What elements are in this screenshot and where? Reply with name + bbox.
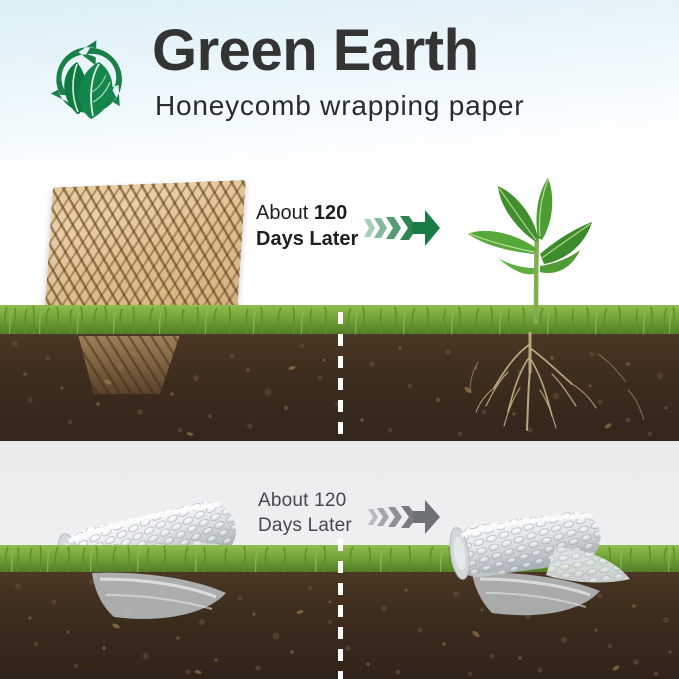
plastic-panel: About 120 Days Later (0, 441, 679, 679)
infographic-page: Green Earth Honeycomb wrapping paper (0, 0, 679, 679)
timeline-suffix-bottom: Days Later (258, 514, 352, 539)
timeline-prefix-bottom: About (258, 490, 314, 511)
honeycomb-panel: About 120 Days Later (0, 160, 679, 441)
bubble-wrap-buried-left (86, 571, 231, 627)
bubble-wrap-buried-right (466, 571, 606, 623)
green-right-arrow-icon (362, 208, 440, 248)
page-subtitle: Honeycomb wrapping paper (155, 90, 524, 122)
vertical-dashed-divider-top (338, 312, 343, 441)
timeline-days-bottom: 120 (314, 490, 346, 511)
vertical-dashed-divider-bottom (338, 539, 343, 679)
timeline-days-top: 120 (314, 202, 347, 224)
gray-right-arrow-icon (366, 497, 440, 537)
recycle-leaves-icon (33, 26, 145, 134)
sprouted-seedling (450, 172, 640, 324)
timeline-prefix-top: About (256, 202, 314, 224)
seedling-roots (468, 332, 658, 436)
page-title: Green Earth (152, 22, 479, 80)
timeline-label-bottom: About 120 Days Later (258, 489, 352, 538)
header-banner: Green Earth Honeycomb wrapping paper (0, 0, 679, 160)
timeline-suffix-top: Days Later (256, 226, 358, 252)
timeline-label-top: About 120 Days Later (256, 200, 358, 252)
